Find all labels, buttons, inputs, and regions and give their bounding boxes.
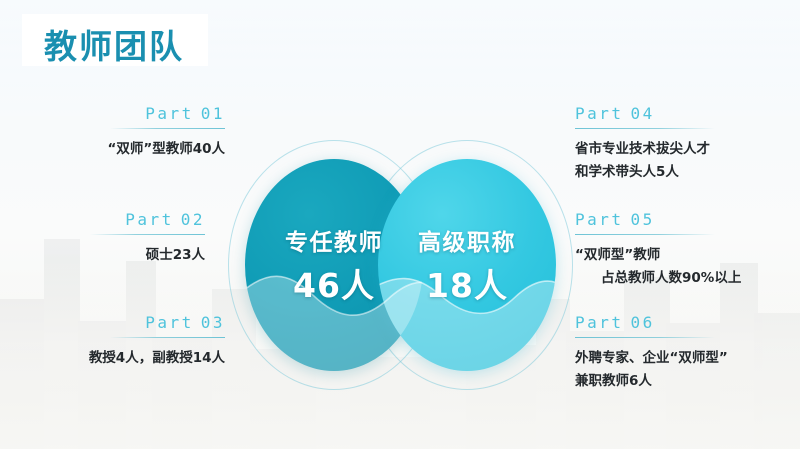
part-block-02[interactable]: Part02 硕士23人 xyxy=(60,210,205,267)
part-body-line: “双师”型教师40人 xyxy=(107,141,225,157)
part-body-line: 兼职教师6人 xyxy=(575,370,775,393)
part-underline xyxy=(90,234,205,235)
part-heading: Part01 xyxy=(60,104,225,123)
bubble-value: 18人 xyxy=(426,259,508,307)
part-body-line: 省市专业技术拔尖人才 xyxy=(575,138,765,161)
part-body: 硕士23人 xyxy=(60,244,205,267)
part-block-01[interactable]: Part01 “双师”型教师40人 xyxy=(60,104,225,161)
slide-canvas: 教师团队 专任教师 46人 高级职称 18人 Part01 “ xyxy=(0,0,800,449)
part-body-line: 和学术带头人5人 xyxy=(575,161,765,184)
part-word: Part xyxy=(575,210,624,229)
part-body: “双师型”教师 占总教师人数90%以上 xyxy=(575,244,765,290)
part-block-05[interactable]: Part05 “双师型”教师 占总教师人数90%以上 xyxy=(575,210,765,290)
part-body: 教授4人，副教授14人 xyxy=(60,347,225,370)
part-heading: Part06 xyxy=(575,313,775,332)
part-block-06[interactable]: Part06 外聘专家、企业“双师型” 兼职教师6人 xyxy=(575,313,775,393)
part-body-line: 外聘专家、企业“双师型” xyxy=(575,347,775,370)
part-heading: Part02 xyxy=(60,210,205,229)
part-underline xyxy=(575,337,715,338)
part-word: Part xyxy=(125,210,174,229)
part-body-line: 硕士23人 xyxy=(146,247,205,263)
part-body: 省市专业技术拔尖人才 和学术带头人5人 xyxy=(575,138,765,184)
part-number: 05 xyxy=(631,210,655,229)
part-number: 04 xyxy=(631,104,655,123)
part-underline xyxy=(110,337,225,338)
part-heading: Part03 xyxy=(60,313,225,332)
part-heading: Part05 xyxy=(575,210,765,229)
part-body-line: “双师型”教师 xyxy=(575,244,765,267)
venn-diagram: 专任教师 46人 高级职称 18人 xyxy=(228,140,573,390)
part-number: 03 xyxy=(201,313,225,332)
part-number: 02 xyxy=(181,210,205,229)
part-underline xyxy=(575,234,715,235)
part-number: 01 xyxy=(201,104,225,123)
bubble-senior-titles[interactable]: 高级职称 18人 xyxy=(378,159,556,371)
part-underline xyxy=(575,128,715,129)
part-word: Part xyxy=(575,104,624,123)
part-number: 06 xyxy=(631,313,655,332)
part-body-line: 教授4人，副教授14人 xyxy=(89,350,225,366)
part-body-line-indented: 占总教师人数90%以上 xyxy=(575,267,765,290)
bubble-label: 专任教师 xyxy=(285,223,383,257)
part-word: Part xyxy=(145,313,194,332)
part-underline xyxy=(110,128,225,129)
bubble-label: 高级职称 xyxy=(418,223,516,257)
bubble-value: 46人 xyxy=(293,259,375,307)
part-body: 外聘专家、企业“双师型” 兼职教师6人 xyxy=(575,347,775,393)
part-heading: Part04 xyxy=(575,104,765,123)
part-block-04[interactable]: Part04 省市专业技术拔尖人才 和学术带头人5人 xyxy=(575,104,765,184)
part-word: Part xyxy=(145,104,194,123)
part-block-03[interactable]: Part03 教授4人，副教授14人 xyxy=(60,313,225,370)
part-word: Part xyxy=(575,313,624,332)
page-title: 教师团队 xyxy=(44,20,184,68)
part-body: “双师”型教师40人 xyxy=(60,138,225,161)
